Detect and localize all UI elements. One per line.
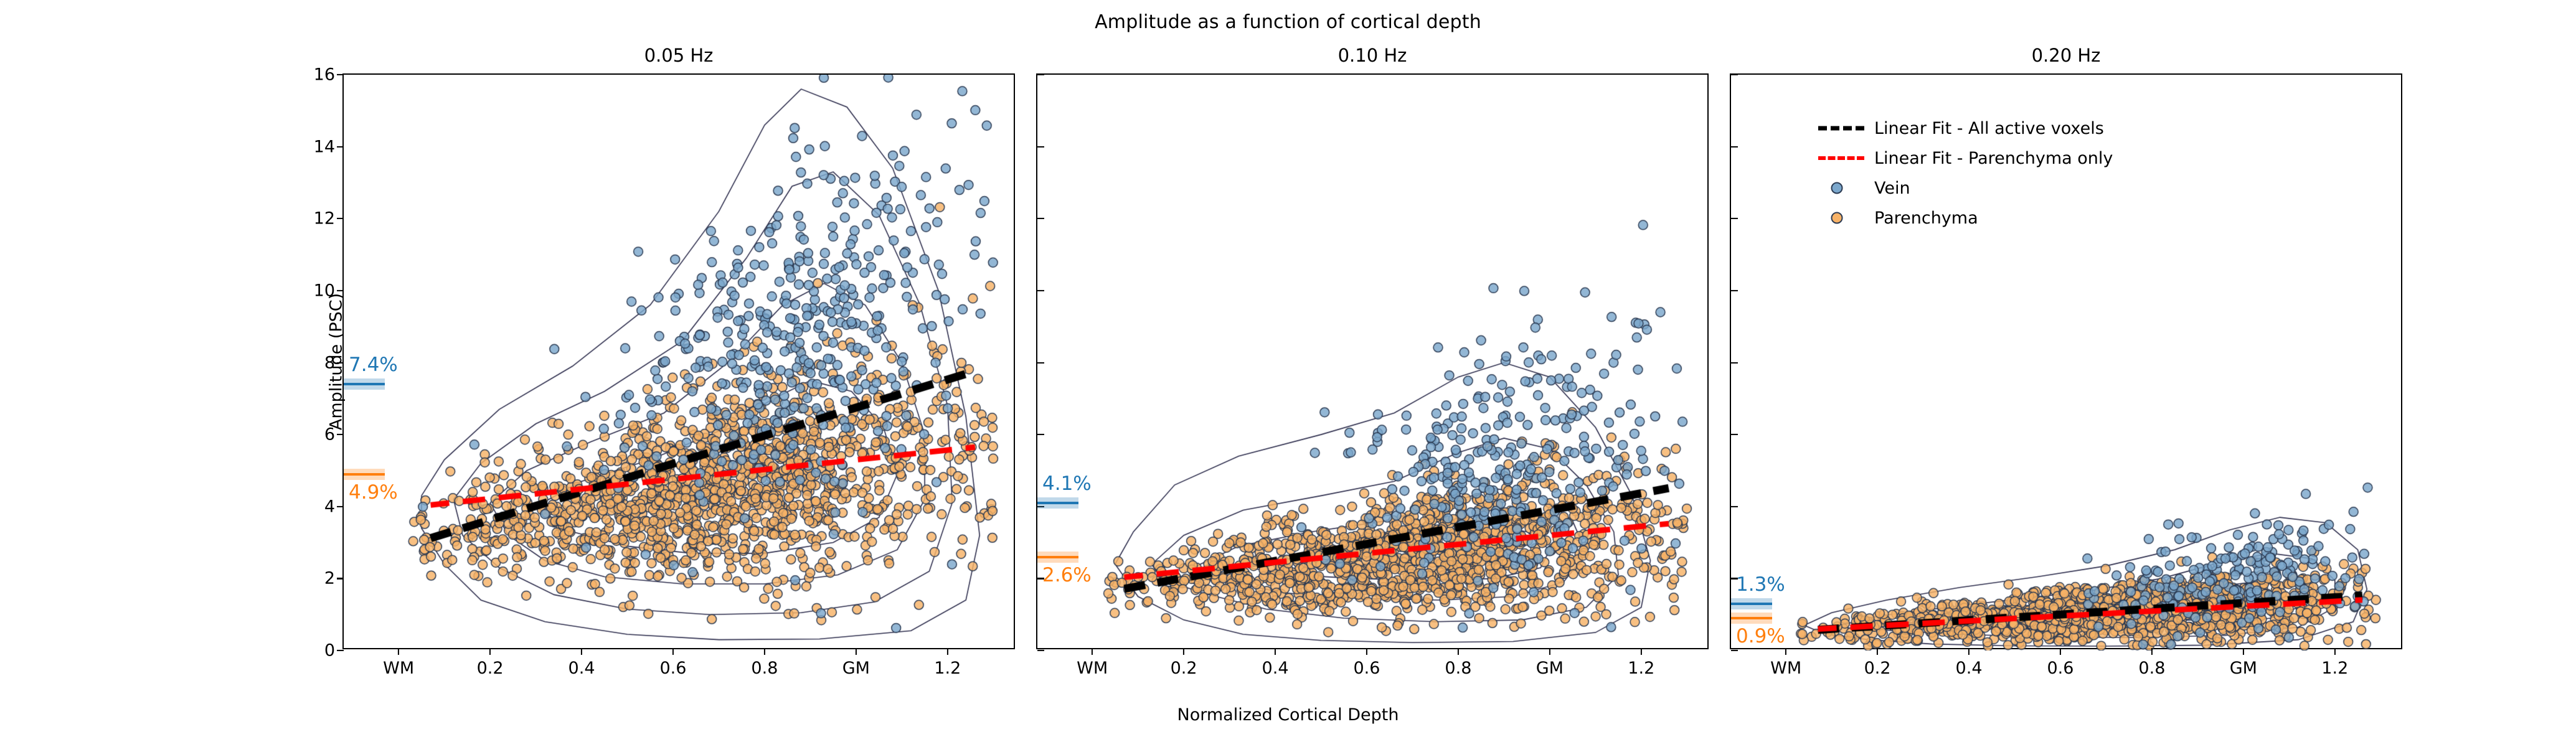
y-tick-label: 4 bbox=[324, 497, 335, 516]
legend-marker bbox=[1818, 120, 1864, 137]
panel-0-05-hz: 0.05 Hz0246810121416Amplitude (PSC)WM0.2… bbox=[342, 73, 1015, 649]
y-tick-mark bbox=[337, 506, 344, 507]
y-tick: 6 bbox=[319, 434, 344, 435]
x-tick: 0.2 bbox=[1877, 648, 1878, 649]
x-tick-mark bbox=[1092, 648, 1093, 655]
legend-item-vein[interactable]: Vein bbox=[1818, 173, 2113, 203]
legend-label: Parenchyma bbox=[1874, 209, 1978, 228]
x-tick: 0.8 bbox=[1458, 648, 1459, 649]
x-tick-mark bbox=[1366, 648, 1367, 655]
y-tick: 4 bbox=[319, 506, 344, 507]
y-tick-mark bbox=[1731, 146, 1738, 148]
x-tick-mark bbox=[2151, 648, 2153, 655]
x-tick-label: 1.2 bbox=[1628, 659, 1654, 678]
figure-root: Amplitude as a function of cortical dept… bbox=[0, 0, 2576, 747]
y-tick-mark bbox=[1731, 74, 1738, 75]
x-tick-label: 1.2 bbox=[2321, 659, 2348, 678]
x-tick: 1.2 bbox=[2334, 648, 2336, 649]
vein-mean-label: 7.4% bbox=[349, 355, 398, 375]
x-tick-label: 0.2 bbox=[1171, 659, 1197, 678]
panel-title: 0.05 Hz bbox=[344, 45, 1014, 66]
scatter-canvas bbox=[1037, 75, 1710, 651]
y-tick-mark bbox=[337, 578, 344, 579]
x-tick: 0.8 bbox=[2151, 648, 2153, 649]
y-tick-mark bbox=[337, 146, 344, 148]
dashed-line-icon bbox=[1818, 156, 1864, 160]
y-tick-mark bbox=[1037, 146, 1044, 148]
x-tick-label: 0.8 bbox=[1445, 659, 1471, 678]
y-tick-mark bbox=[1731, 290, 1738, 291]
legend-marker bbox=[1818, 209, 1864, 227]
x-tick-mark bbox=[856, 648, 857, 655]
circle-marker-icon bbox=[1831, 212, 1843, 224]
y-tick-mark bbox=[1731, 362, 1738, 363]
y-tick-mark bbox=[337, 218, 344, 219]
y-tick: 12 bbox=[319, 218, 344, 219]
parenchyma-mean-marker bbox=[1037, 552, 1078, 563]
x-tick-mark bbox=[947, 648, 948, 655]
x-axis-label: Normalized Cortical Depth bbox=[0, 705, 2576, 725]
x-tick-mark bbox=[489, 648, 491, 655]
x-tick-mark bbox=[398, 648, 399, 655]
y-axis-label: Amplitude (PSC) bbox=[327, 293, 346, 430]
x-tick: WM bbox=[1092, 648, 1093, 649]
x-tick: GM bbox=[2243, 648, 2244, 649]
legend-item-linear-fit-all[interactable]: Linear Fit - All active voxels bbox=[1818, 113, 2113, 143]
x-tick-mark bbox=[764, 648, 765, 655]
parenchyma-mean-label: 4.9% bbox=[349, 483, 398, 502]
panel-0-10-hz: 0.10 HzWM0.20.40.60.8GM1.24.1%2.6% bbox=[1036, 73, 1709, 649]
x-tick-mark bbox=[1641, 648, 1642, 655]
y-tick-mark bbox=[1731, 434, 1738, 435]
legend-marker bbox=[1818, 179, 1864, 197]
y-tick-mark bbox=[1731, 506, 1738, 507]
parenchyma-mean-label: 2.6% bbox=[1042, 566, 1092, 585]
x-tick-label: 0.2 bbox=[477, 659, 504, 678]
x-tick: 0.4 bbox=[581, 648, 582, 649]
x-tick: 0.2 bbox=[1183, 648, 1184, 649]
x-tick-label: 0.6 bbox=[2047, 659, 2074, 678]
mean-marker-line bbox=[1037, 502, 1078, 504]
x-tick-label: 0.4 bbox=[1262, 659, 1289, 678]
x-tick-label: GM bbox=[842, 659, 870, 678]
x-tick-label: 0.6 bbox=[1353, 659, 1380, 678]
x-tick-mark bbox=[2334, 648, 2336, 655]
x-tick-label: 0.8 bbox=[751, 659, 778, 678]
x-tick-mark bbox=[2243, 648, 2244, 655]
panel-title: 0.10 Hz bbox=[1037, 45, 1707, 66]
x-tick-label: WM bbox=[383, 659, 414, 678]
y-tick: 14 bbox=[319, 146, 344, 148]
x-tick: WM bbox=[1785, 648, 1786, 649]
circle-marker-icon bbox=[1831, 182, 1843, 194]
x-tick-label: GM bbox=[2230, 659, 2257, 678]
y-tick-mark bbox=[337, 434, 344, 435]
y-tick-mark bbox=[1037, 218, 1044, 219]
x-tick: 0.6 bbox=[2060, 648, 2061, 649]
y-tick-label: 14 bbox=[314, 137, 335, 156]
x-tick-mark bbox=[1549, 648, 1550, 655]
legend-label: Linear Fit - All active voxels bbox=[1874, 119, 2104, 138]
legend-label: Linear Fit - Parenchyma only bbox=[1874, 149, 2113, 168]
x-tick-mark bbox=[672, 648, 674, 655]
mean-marker-line bbox=[1037, 556, 1078, 558]
mean-marker-line bbox=[344, 383, 385, 385]
x-tick-mark bbox=[581, 648, 582, 655]
y-tick-mark bbox=[1731, 218, 1738, 219]
y-tick-mark bbox=[337, 290, 344, 291]
x-tick: GM bbox=[856, 648, 857, 649]
x-tick-label: WM bbox=[1770, 659, 1801, 678]
vein-mean-label: 1.3% bbox=[1736, 575, 1785, 594]
parenchyma-mean-marker bbox=[1731, 613, 1772, 624]
x-tick: GM bbox=[1549, 648, 1550, 649]
y-tick-label: 16 bbox=[314, 65, 335, 85]
y-tick-mark bbox=[337, 74, 344, 75]
y-tick-mark bbox=[1037, 362, 1044, 363]
x-tick: 0.4 bbox=[1968, 648, 1970, 649]
legend: Linear Fit - All active voxelsLinear Fit… bbox=[1818, 113, 2113, 233]
legend-item-parenchyma[interactable]: Parenchyma bbox=[1818, 203, 2113, 233]
y-tick-label: 0 bbox=[324, 641, 335, 660]
x-tick-label: 0.4 bbox=[1956, 659, 1983, 678]
scatter-canvas bbox=[344, 75, 1016, 651]
figure-title: Amplitude as a function of cortical dept… bbox=[0, 11, 2576, 33]
x-tick-mark bbox=[1785, 648, 1786, 655]
dashed-line-icon bbox=[1818, 126, 1864, 131]
y-tick-mark bbox=[337, 650, 344, 651]
x-tick: 0.6 bbox=[1366, 648, 1367, 649]
vein-mean-marker bbox=[1037, 497, 1078, 509]
x-tick: 1.2 bbox=[947, 648, 948, 649]
y-tick: 2 bbox=[319, 578, 344, 579]
y-tick-mark bbox=[1037, 290, 1044, 291]
x-tick-label: 0.4 bbox=[569, 659, 595, 678]
panel-0-20-hz: 0.20 HzWM0.20.40.60.8GM1.21.3%0.9%Linear… bbox=[1730, 73, 2402, 649]
x-tick-label: 0.8 bbox=[2138, 659, 2165, 678]
y-tick-mark bbox=[1037, 650, 1044, 651]
y-tick-label: 2 bbox=[324, 569, 335, 588]
y-tick-label: 12 bbox=[314, 209, 335, 228]
y-tick: 0 bbox=[319, 650, 344, 651]
x-tick-label: 1.2 bbox=[934, 659, 961, 678]
y-tick-mark bbox=[1731, 650, 1738, 651]
y-tick-mark bbox=[1037, 434, 1044, 435]
legend-marker bbox=[1818, 149, 1864, 167]
legend-item-linear-fit-parenchyma[interactable]: Linear Fit - Parenchyma only bbox=[1818, 143, 2113, 173]
panel-title: 0.20 Hz bbox=[1731, 45, 2401, 66]
x-tick-mark bbox=[1458, 648, 1459, 655]
x-tick-mark bbox=[1275, 648, 1276, 655]
x-tick-label: GM bbox=[1536, 659, 1564, 678]
x-tick: WM bbox=[398, 648, 399, 649]
legend-label: Vein bbox=[1874, 179, 1910, 198]
x-tick-mark bbox=[1183, 648, 1184, 655]
x-tick: 1.2 bbox=[1641, 648, 1642, 649]
x-tick-mark bbox=[2060, 648, 2061, 655]
x-tick: 0.6 bbox=[672, 648, 674, 649]
x-tick: 0.2 bbox=[489, 648, 491, 649]
x-tick: 0.4 bbox=[1275, 648, 1276, 649]
mean-marker-line bbox=[1731, 603, 1772, 605]
x-tick-mark bbox=[1877, 648, 1878, 655]
parenchyma-mean-label: 0.9% bbox=[1736, 627, 1785, 646]
x-tick-mark bbox=[1968, 648, 1970, 655]
mean-marker-line bbox=[1731, 617, 1772, 619]
x-tick: 0.8 bbox=[764, 648, 765, 649]
x-tick-label: 0.2 bbox=[1864, 659, 1891, 678]
x-tick-label: 0.6 bbox=[659, 659, 686, 678]
mean-marker-line bbox=[344, 473, 385, 476]
vein-mean-label: 4.1% bbox=[1042, 474, 1092, 494]
y-tick-mark bbox=[1037, 74, 1044, 75]
x-tick-label: WM bbox=[1077, 659, 1108, 678]
parenchyma-mean-marker bbox=[344, 469, 385, 480]
vein-mean-marker bbox=[344, 378, 385, 390]
y-tick: 16 bbox=[319, 74, 344, 75]
y-tick: 10 bbox=[319, 290, 344, 291]
vein-mean-marker bbox=[1731, 598, 1772, 609]
